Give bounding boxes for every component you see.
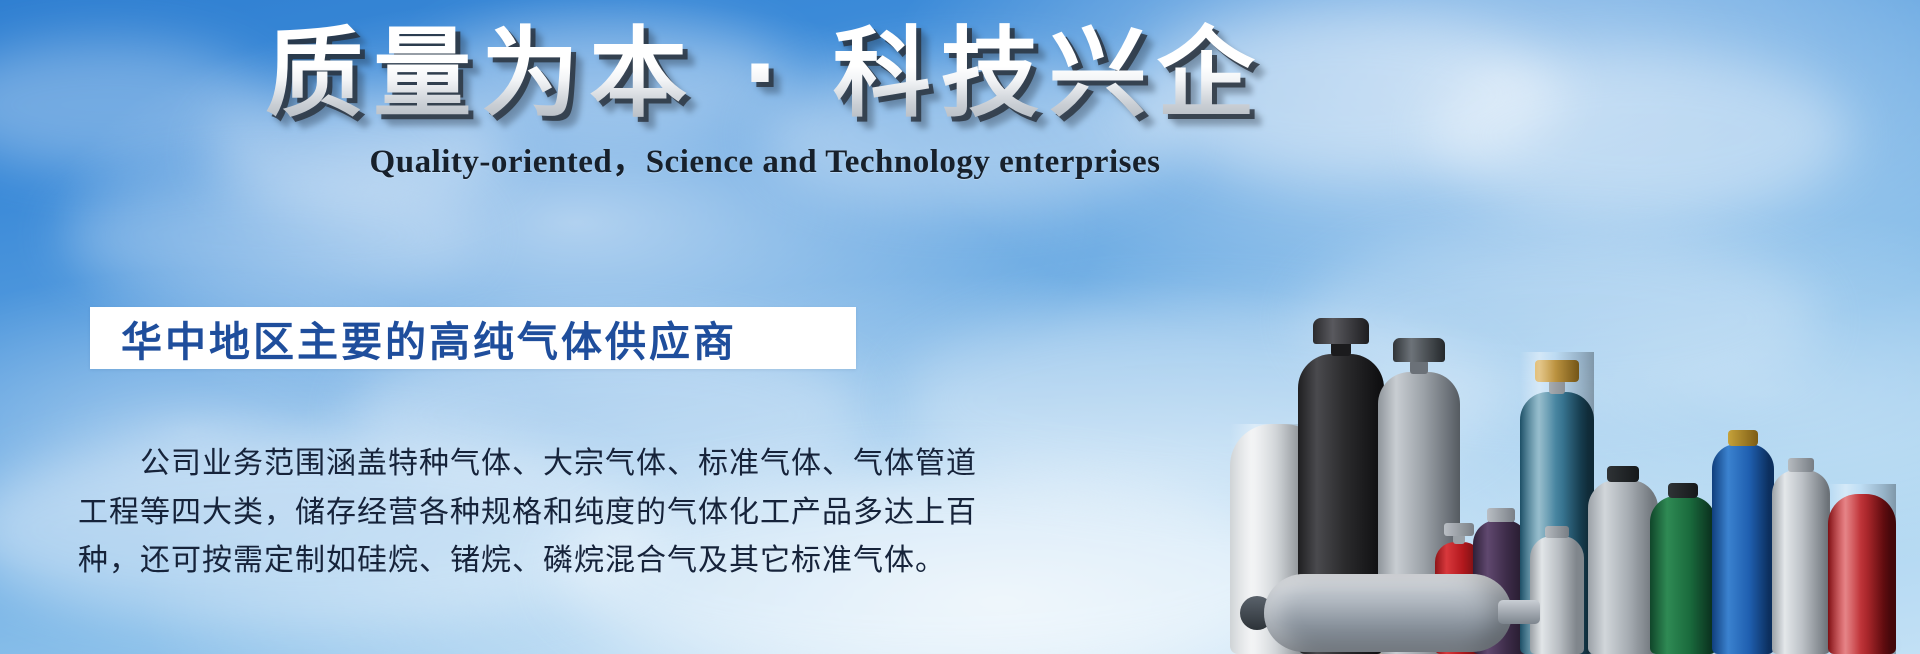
headline-container: 质量为本 · 科技兴企 xyxy=(0,22,1530,128)
cylinder-valve xyxy=(1788,458,1814,472)
cylinder-valve xyxy=(1444,523,1474,536)
cylinder-valve xyxy=(1668,483,1698,498)
subtitle-container: Quality-oriented，Science and Technology … xyxy=(0,134,1530,182)
cylinder-valve xyxy=(1607,466,1639,482)
cylinder-valve xyxy=(1535,360,1579,382)
aluminum-cylinder xyxy=(1772,454,1830,654)
banner-headline: 质量为本 · 科技兴企 xyxy=(265,22,1264,128)
cylinder-valve xyxy=(1728,430,1758,446)
cylinder-valve xyxy=(1498,600,1540,624)
gas-cylinder-product-group xyxy=(1220,234,1920,654)
cylinder-valve xyxy=(1545,526,1569,538)
red-tall-cylinder xyxy=(1828,484,1896,654)
gray-mid-cylinder xyxy=(1588,458,1658,654)
tagline-box: 华中地区主要的高纯气体供应商 xyxy=(90,307,856,369)
tagline-text: 华中地区主要的高纯气体供应商 xyxy=(121,308,737,368)
cylinder-valve xyxy=(1487,508,1515,522)
cylinder-cap xyxy=(1393,338,1445,362)
green-cylinder xyxy=(1650,476,1716,654)
body-line: 种，还可按需定制如硅烷、锗烷、磷烷混合气及其它标准气体。 xyxy=(78,537,864,586)
promotional-banner: 质量为本 · 科技兴企 Quality-oriented，Science and… xyxy=(0,0,1920,654)
body-paragraph: 公司业务范围涵盖特种气体、大宗气体、标准气体、气体管道 工程等四大类，储存经营各… xyxy=(78,440,864,586)
cloud-decoration xyxy=(60,170,480,300)
cylinder-cap xyxy=(1313,318,1369,344)
body-line: 公司业务范围涵盖特种气体、大宗气体、标准气体、气体管道 xyxy=(78,440,864,489)
cylinder-neck xyxy=(1410,360,1428,374)
cylinder-body xyxy=(1264,574,1512,652)
body-line: 工程等四大类，储存经营各种规格和纯度的气体化工产品多达上百 xyxy=(78,489,864,538)
dark-blue-cylinder xyxy=(1712,424,1774,654)
cylinder-neck xyxy=(1549,380,1565,394)
banner-subtitle: Quality-oriented，Science and Technology … xyxy=(370,134,1161,182)
horizontal-cylinder xyxy=(1240,574,1540,652)
